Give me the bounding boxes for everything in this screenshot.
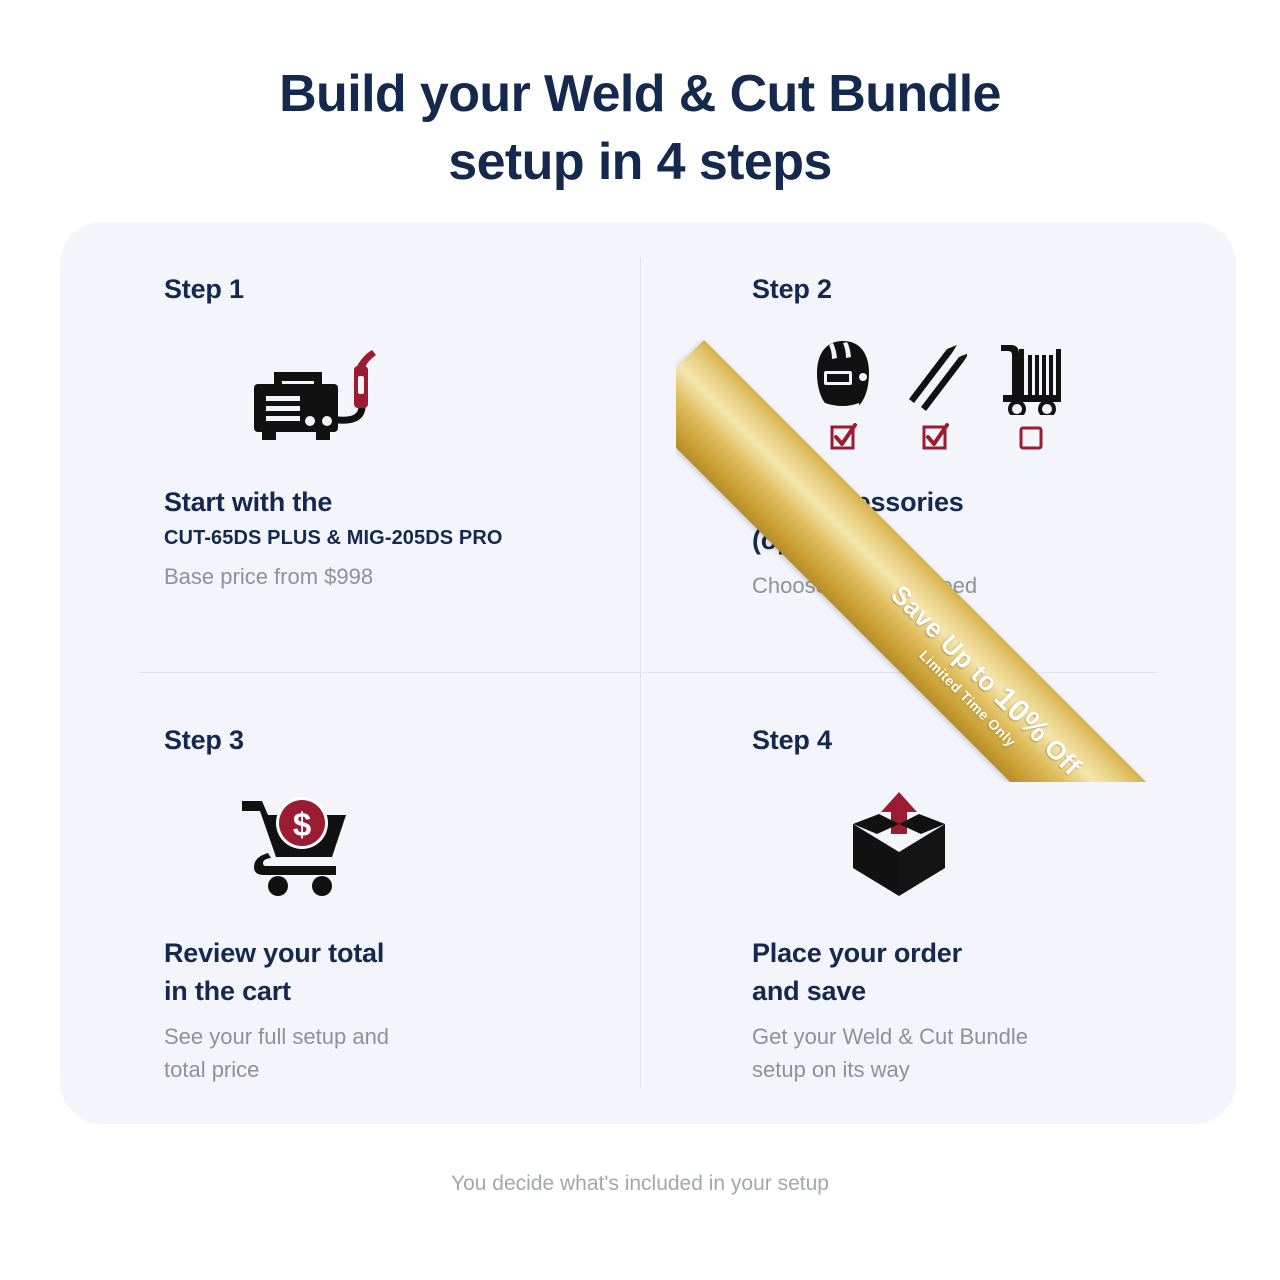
step-2-heading-line-2: (optional)	[752, 525, 873, 555]
shopping-cart-dollar-glyph: $	[238, 793, 354, 897]
step-4-cell: Step 4 Place your order and save Get y	[648, 673, 1236, 1124]
step-1-cell: Step 1	[60, 222, 648, 673]
step-4-sub-line-2: setup on its way	[752, 1057, 910, 1082]
accessories-icons	[752, 305, 1166, 483]
step-1-label: Step 1	[164, 274, 578, 305]
step-2-label: Step 2	[752, 274, 1166, 305]
step-3-sub-line-2: total price	[164, 1057, 259, 1082]
step-3-cell: Step 3 $ Review your total in the cart	[60, 673, 648, 1124]
welding-rods-icon	[903, 337, 967, 415]
footer-note: You decide what's included in your setup	[0, 1172, 1280, 1196]
page-title: Build your Weld & Cut Bundle setup in 4 …	[0, 60, 1280, 196]
step-1-price: Base price from $998	[164, 560, 578, 593]
steps-card: Step 1	[60, 222, 1236, 1124]
gas-cylinder-cart-glyph	[995, 339, 1067, 415]
accessory-cart[interactable]	[995, 337, 1067, 451]
steps-grid: Step 1	[60, 222, 1236, 1124]
welding-machine-icon	[164, 305, 578, 483]
step-3-heading-line-1: Review your total	[164, 938, 384, 968]
step-4-heading-line-1: Place your order	[752, 938, 962, 968]
welding-rods-glyph	[903, 339, 967, 415]
promo-infographic: Build your Weld & Cut Bundle setup in 4 …	[0, 0, 1280, 1280]
accessory-list	[811, 337, 1067, 451]
page-title-line-1: Build your Weld & Cut Bundle	[0, 60, 1280, 128]
checkbox-checked-icon[interactable]	[829, 423, 857, 451]
step-4-sub-line-1: Get your Weld & Cut Bundle	[752, 1024, 1028, 1049]
welding-helmet-icon	[811, 337, 875, 415]
welding-machine-glyph	[236, 344, 386, 444]
accessory-rods[interactable]	[903, 337, 967, 451]
step-3-heading: Review your total in the cart	[164, 934, 578, 1010]
step-3-heading-line-2: in the cart	[164, 976, 291, 1006]
step-3-sub: See your full setup and total price	[164, 1020, 578, 1086]
shipping-box-glyph	[845, 790, 953, 900]
welding-helmet-glyph	[811, 339, 875, 415]
svg-text:$: $	[293, 806, 311, 843]
step-3-label: Step 3	[164, 725, 578, 756]
step-1-model: CUT-65DS PLUS & MIG-205DS PRO	[164, 527, 578, 550]
page-title-line-2: setup in 4 steps	[0, 128, 1280, 196]
step-3-sub-line-1: See your full setup and	[164, 1024, 389, 1049]
step-4-sub: Get your Weld & Cut Bundle setup on its …	[752, 1020, 1166, 1086]
step-2-cell: Step 2	[648, 222, 1236, 673]
step-2-sub: Choose what you need	[752, 569, 1166, 602]
shopping-cart-dollar-icon: $	[164, 756, 578, 934]
checkbox-unchecked-icon[interactable]	[1017, 423, 1045, 451]
step-4-label: Step 4	[752, 725, 1166, 756]
step-2-heading: Add accessories (optional)	[752, 483, 1166, 559]
checkbox-checked-icon[interactable]	[921, 423, 949, 451]
step-4-heading: Place your order and save	[752, 934, 1166, 1010]
gas-cylinder-cart-icon	[995, 337, 1067, 415]
step-2-heading-line-1: Add accessories	[752, 487, 964, 517]
step-1-heading: Start with the	[164, 483, 578, 521]
step-4-heading-line-2: and save	[752, 976, 866, 1006]
shipping-box-icon	[752, 756, 1166, 934]
accessory-helmet[interactable]	[811, 337, 875, 451]
